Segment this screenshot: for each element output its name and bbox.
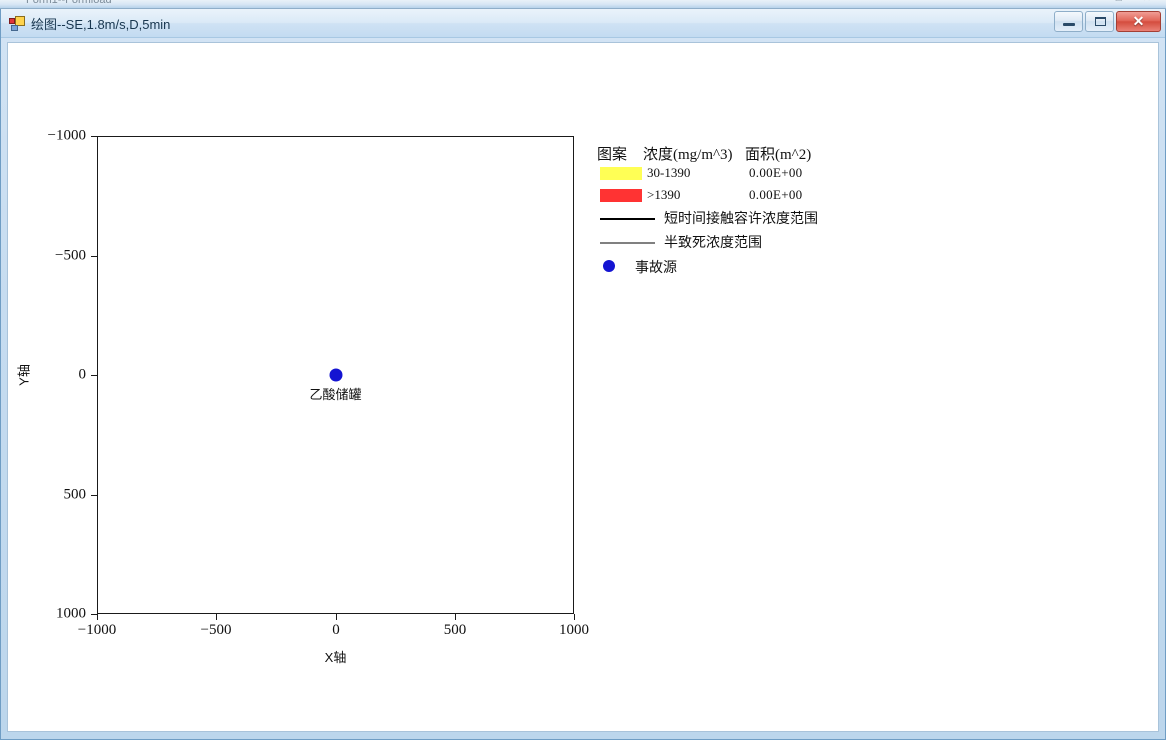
background-window-title: Form1--Formload [26,0,112,6]
legend-color-swatch [600,167,642,180]
legend-header-concentration: 浓度(mg/m^3) [643,143,733,164]
legend-dot-label: 事故源 [635,257,677,277]
x-axis-tick [336,614,337,620]
maximize-icon [1095,17,1106,26]
vb-form-icon [9,15,25,31]
vb-form-icon-red-square [9,18,15,24]
legend-header-area: 面积(m^2) [745,143,811,164]
legend-concentration-value: 30-1390 [647,165,690,181]
legend-area-value: 0.00E+00 [749,165,802,181]
x-axis-tick [574,614,575,620]
legend-line-label: 短时间接触容许浓度范围 [664,208,818,228]
legend-row: >13900.00E+00 [597,185,857,207]
close-icon: ✕ [1117,12,1160,31]
legend-concentration-value: >1390 [647,187,680,203]
x-axis-tick [216,614,217,620]
legend-area-value: 0.00E+00 [749,187,802,203]
legend-line-swatch [600,218,655,220]
legend-color-swatch [600,189,642,202]
window-controls: ✕ [1054,11,1161,32]
legend-row: 30-13900.00E+00 [597,163,857,185]
y-axis-tick [91,256,97,257]
y-axis-tick [91,495,97,496]
background-window-sliver[interactable]: Form1--Formload — □ ✕ [0,0,1166,9]
legend-line-label: 半致死浓度范围 [664,232,762,252]
y-axis-title: Y轴 [14,364,33,386]
title-bar[interactable]: 绘图--SE,1.8m/s,D,5min ✕ [1,9,1165,38]
legend-line-row: 短时间接触容许浓度范围 [597,207,857,231]
minimize-icon [1063,23,1075,26]
x-axis-tick-label: 0 [332,622,340,639]
y-axis-tick [91,375,97,376]
y-axis-tick-label: −500 [8,248,86,265]
x-axis-tick-label: 1000 [559,622,589,639]
window-title: 绘图--SE,1.8m/s,D,5min [31,14,170,33]
x-axis-tick [455,614,456,620]
plot-window: 绘图--SE,1.8m/s,D,5min ✕ −1000−50005001000… [0,9,1166,740]
legend-dot-swatch [603,260,615,272]
legend-header-pattern: 图案 [597,143,627,164]
client-area: −1000−5000500100010005000−500−1000X轴Y轴乙酸… [7,42,1159,732]
x-axis-title: X轴 [325,647,347,666]
close-button[interactable]: ✕ [1116,11,1161,32]
x-axis-tick-label: −500 [201,622,232,639]
y-axis-tick-label: 1000 [8,606,86,623]
x-axis-tick [97,614,98,620]
screen: Form1--Formload — □ ✕ 绘图--SE,1.8m/s,D,5m… [0,0,1166,740]
x-axis-tick-label: −1000 [78,622,116,639]
y-axis-tick-label: 500 [8,487,86,504]
legend-line-row: 半致死浓度范围 [597,231,857,255]
legend-dot-row: 事故源 [597,255,857,279]
y-axis-tick [91,136,97,137]
x-axis-tick-label: 500 [444,622,467,639]
y-axis-tick [91,614,97,615]
chart-legend: 图案浓度(mg/m^3)面积(m^2)30-13900.00E+00>13900… [597,143,857,279]
legend-line-swatch [600,242,655,244]
accident-source-label: 乙酸储罐 [309,384,361,403]
maximize-button[interactable] [1085,11,1114,32]
y-axis-tick-label: −1000 [8,128,86,145]
chart-canvas: −1000−5000500100010005000−500−1000X轴Y轴乙酸… [8,43,1158,731]
vb-form-icon-blue-square [11,25,18,31]
background-window-controls[interactable]: — □ ✕ [1085,0,1160,4]
accident-source-point[interactable] [329,369,342,382]
legend-header-row: 图案浓度(mg/m^3)面积(m^2) [597,143,857,163]
minimize-button[interactable] [1054,11,1083,32]
